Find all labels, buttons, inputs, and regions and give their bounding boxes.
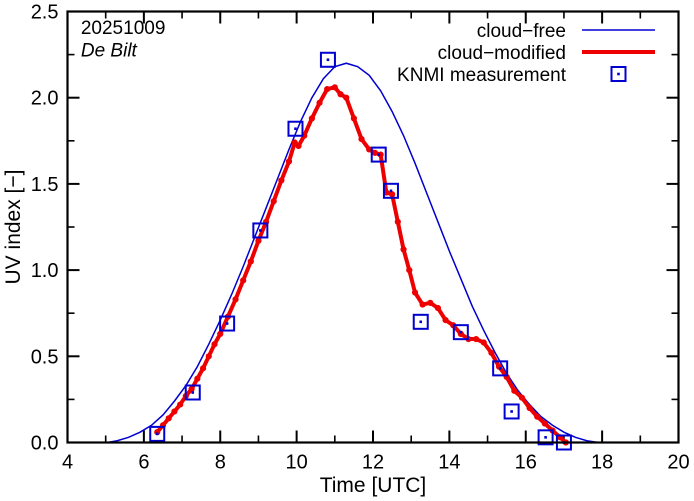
cloud-modified-point (526, 405, 532, 411)
series-cloud-modified (154, 84, 569, 445)
cloud-modified-point (473, 336, 479, 342)
y-tick-label: 1.0 (31, 260, 59, 282)
cloud-modified-point (295, 143, 301, 149)
cloud-modified-point (271, 198, 277, 204)
y-axis-tick-labels: 0.00.51.01.52.02.5 (31, 2, 59, 455)
y-axis-major-ticks (68, 12, 679, 443)
cloud-modified-point (324, 86, 330, 92)
y-tick-label: 1.5 (31, 174, 59, 196)
cloud-modified-point (206, 353, 212, 359)
knmi-measurement-marker-center (327, 58, 330, 61)
y-axis-minor-ticks (68, 55, 679, 400)
cloud-modified-point (442, 317, 448, 323)
knmi-measurement-marker-center (544, 436, 547, 439)
cloud-modified-point (200, 365, 206, 371)
x-tick-label: 14 (438, 452, 460, 474)
cloud-modified-point (519, 395, 525, 401)
cloud-modified-point (542, 420, 548, 426)
cloud-modified-point (427, 300, 433, 306)
cloud-modified-point (412, 289, 418, 295)
annotation-station: De Bilt (81, 40, 138, 61)
cloud-modified-point (171, 408, 177, 414)
knmi-measurement-marker-center (499, 367, 502, 370)
x-tick-label: 8 (215, 452, 226, 474)
annotation-date: 20251009 (81, 18, 166, 39)
cloud-modified-point (332, 84, 338, 90)
x-tick-label: 12 (362, 452, 384, 474)
cloud-modified-point (534, 414, 540, 420)
x-tick-label: 6 (138, 452, 149, 474)
cloud-modified-point (395, 219, 401, 225)
cloud-modified-point (286, 158, 292, 164)
x-tick-label: 4 (62, 452, 73, 474)
y-axis-label: UV index [−] (2, 170, 25, 285)
cloud-modified-point (248, 258, 254, 264)
cloud-modified-point (217, 331, 223, 337)
cloud-modified-point (358, 136, 364, 142)
x-axis-tick-labels: 468101214161820 (62, 452, 690, 474)
cloud-modified-point (166, 415, 172, 421)
cloud-modified-point (232, 296, 238, 302)
chart-figure: 468101214161820 0.00.51.01.52.02.5 20251… (0, 0, 694, 501)
knmi-measurement-marker-center (377, 153, 380, 156)
cloud-modified-point (343, 95, 349, 101)
legend: cloud−freecloud−modifiedKNMI measurement (397, 21, 655, 86)
legend-label-0: cloud−free (477, 21, 566, 42)
y-tick-label: 2.0 (31, 88, 59, 110)
cloud-modified-point (316, 100, 322, 106)
cloud-modified-point (194, 376, 200, 382)
cloud-modified-point (372, 150, 378, 156)
x-tick-label: 20 (667, 452, 689, 474)
cloud-modified-point (481, 339, 487, 345)
cloud-modified-point (406, 267, 412, 273)
x-tick-label: 18 (591, 452, 613, 474)
cloud-modified-point (420, 301, 426, 307)
cloud-modified-point (309, 115, 315, 121)
cloud-modified-point (511, 388, 517, 394)
legend-label-1: cloud−modified (438, 43, 566, 64)
knmi-measurement-marker-center (191, 391, 194, 394)
knmi-measurement-marker-center (294, 127, 297, 130)
cloud-modified-point (435, 305, 441, 311)
cloud-modified-point (177, 401, 183, 407)
knmi-measurement-marker-center (259, 229, 262, 232)
legend-label-2: KNMI measurement (397, 65, 567, 86)
knmi-measurement-marker-center (460, 331, 463, 334)
cloud-modified-point (278, 177, 284, 183)
knmi-measurement-marker-center (419, 321, 422, 324)
y-tick-label: 2.5 (31, 2, 59, 24)
x-tick-label: 10 (286, 452, 308, 474)
cloud-modified-point (400, 246, 406, 252)
cloud-modified-point (240, 277, 246, 283)
knmi-measurement-marker-center (390, 190, 393, 193)
x-tick-label: 16 (515, 452, 537, 474)
plot-frame (68, 12, 679, 443)
y-tick-label: 0.0 (31, 433, 59, 455)
series-knmi-measurement (150, 53, 571, 450)
x-axis-label: Time [UTC] (320, 474, 427, 497)
cloud-modified-point (255, 238, 261, 244)
cloud-modified-point (351, 115, 357, 121)
knmi-measurement-marker-center (510, 410, 513, 413)
cloud-modified-point (488, 350, 494, 356)
knmi-measurement-marker-center (226, 322, 229, 325)
uv-index-plot: 468101214161820 0.00.51.01.52.02.5 20251… (0, 0, 694, 501)
cloud-modified-point (211, 341, 217, 347)
x-axis-major-ticks (68, 12, 679, 443)
y-tick-label: 0.5 (31, 346, 59, 368)
knmi-measurement-marker-center (156, 433, 159, 436)
cloud-modified-point (337, 91, 343, 97)
legend-swatch-knmi-center (617, 73, 620, 76)
